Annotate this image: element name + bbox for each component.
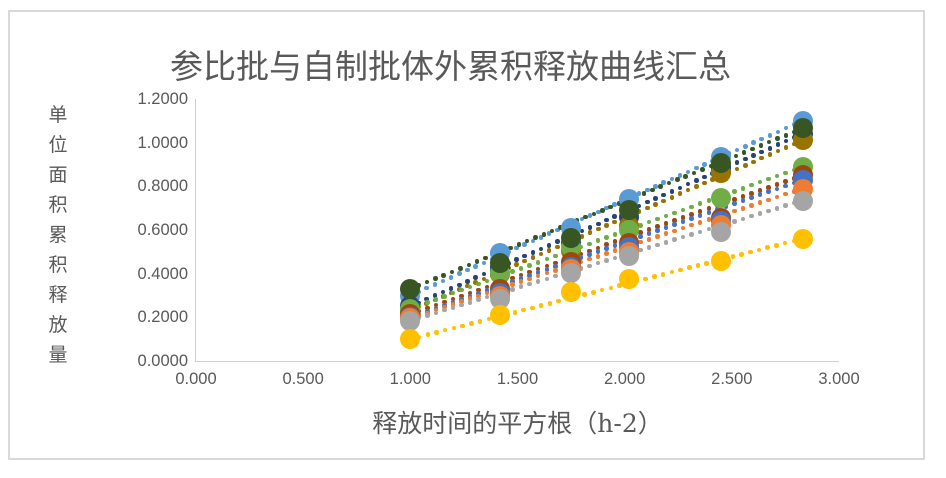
trendline-dot xyxy=(784,126,789,131)
trendline-dot xyxy=(482,261,487,266)
trendline-dot xyxy=(441,279,446,284)
trendline-dot xyxy=(686,182,691,187)
trendline-dot xyxy=(426,332,431,337)
trendline-dot xyxy=(556,299,561,304)
trendline-dot xyxy=(750,147,755,152)
trendline-dot xyxy=(766,198,771,203)
trendline-dot xyxy=(751,140,756,145)
trendline-dot xyxy=(536,274,541,279)
trendline-dot xyxy=(749,214,754,219)
trendline-dot xyxy=(465,279,470,284)
trendline-dot xyxy=(553,268,558,273)
trendline-dot xyxy=(683,174,688,179)
trendline-dot xyxy=(452,326,457,331)
trendline-dot xyxy=(638,240,643,245)
trendline-dot xyxy=(653,196,658,201)
trendline-dot xyxy=(686,188,691,193)
trendline-dot xyxy=(604,235,609,240)
trendline-dot xyxy=(527,277,532,282)
trendline-dot xyxy=(588,225,593,230)
trendline-dot xyxy=(475,259,480,264)
trendline-dot xyxy=(749,203,754,208)
trendline-dot xyxy=(775,206,780,211)
trendline-dot xyxy=(478,319,483,324)
trendline-dot xyxy=(743,163,748,168)
trendline-dot xyxy=(768,133,773,138)
trendline-dot xyxy=(433,282,438,287)
trendline-dot xyxy=(531,250,536,255)
trendline-dot xyxy=(647,237,652,242)
trendline-dot xyxy=(681,226,686,231)
cumulative-release-chart: 参比批与自制批体外累积释放曲线汇总 单位面积累积释放量 释放时间的平方根（h-2… xyxy=(0,0,946,478)
trendline-dot xyxy=(638,248,643,253)
trendline-dot xyxy=(672,211,677,216)
data-point-marker xyxy=(711,188,731,208)
trendline-dot xyxy=(758,192,763,197)
trendline-dot xyxy=(694,178,699,183)
trendline-dot xyxy=(521,308,526,313)
x-tick-label: 2.000 xyxy=(585,370,665,389)
trendline-dot xyxy=(608,205,613,210)
trendline-dot xyxy=(661,272,666,277)
trendline-dot xyxy=(539,247,544,252)
trendline-dot xyxy=(582,292,587,297)
trendline-dot xyxy=(647,220,652,225)
trendline-dot xyxy=(604,223,609,228)
trendline-dot xyxy=(539,252,544,257)
trendline-dot xyxy=(587,257,592,262)
trendline-dot xyxy=(767,140,772,145)
trendline-dot xyxy=(536,260,541,265)
data-point-marker xyxy=(490,253,510,273)
trendline-dot xyxy=(476,282,481,287)
data-point-marker xyxy=(561,282,581,302)
trendline-dot xyxy=(775,174,780,179)
trendline-dot xyxy=(742,150,747,155)
y-axis-title: 单位面积累积释放量 xyxy=(38,100,78,370)
trendline-dot xyxy=(596,222,601,227)
trendline-dot xyxy=(732,219,737,224)
trendline-dot xyxy=(741,217,746,222)
trendline-dot xyxy=(735,148,740,153)
trendline-dot xyxy=(776,142,781,147)
trendline-dot xyxy=(587,264,592,269)
y-tick-label: 0.6000 xyxy=(112,221,188,240)
x-tick-label: 3.000 xyxy=(799,370,879,389)
y-axis-title-char-5: 积 xyxy=(38,250,78,280)
trendline-dot xyxy=(442,308,447,313)
trendline-dot xyxy=(596,238,601,243)
trendline-dot xyxy=(655,228,660,233)
y-axis-title-char-6: 释 xyxy=(38,280,78,310)
trendline-dot xyxy=(522,259,527,264)
trendline-dot xyxy=(766,209,771,214)
y-axis-tick-labels: 0.00000.20000.40000.60000.80001.00001.20… xyxy=(108,99,188,361)
trendline-dot xyxy=(741,198,746,203)
trendline-dot xyxy=(536,279,541,284)
trendline-dot xyxy=(650,188,655,193)
trendline-dot xyxy=(739,252,744,257)
trendline-dot xyxy=(689,205,694,210)
trendline-dot xyxy=(482,272,487,277)
trendline-dot xyxy=(547,248,552,253)
trendline-dot xyxy=(527,263,532,268)
trendline-dot xyxy=(442,294,447,299)
trendline-dot xyxy=(583,215,588,220)
trendline-dot xyxy=(661,199,666,204)
trendline-dot xyxy=(652,274,657,279)
trendline-dot xyxy=(533,235,538,240)
trendline-dot xyxy=(732,201,737,206)
trendline-dot xyxy=(539,303,544,308)
y-tick-label: 0.8000 xyxy=(112,177,188,196)
chart-title: 参比批与自制批体外累积释放曲线汇总 xyxy=(170,44,870,90)
trendline-dot xyxy=(698,220,703,225)
trendline-dot xyxy=(768,152,773,157)
trendline-dot xyxy=(731,254,736,259)
trendline-dot xyxy=(514,257,519,262)
trendline-dot xyxy=(775,136,780,141)
x-axis-tick-labels: 0.0000.5001.0001.5002.0002.5003.000 xyxy=(196,370,839,394)
trendline-dot xyxy=(553,274,558,279)
trendline-dot xyxy=(443,328,448,333)
trendline-dot xyxy=(759,150,764,155)
trendline-dot xyxy=(613,256,618,261)
trendline-dot xyxy=(678,268,683,273)
y-axis-title-char-8: 量 xyxy=(38,340,78,370)
trendline-dot xyxy=(469,321,474,326)
trendline-dot xyxy=(757,248,762,253)
trendline-dot xyxy=(751,153,756,158)
x-tick-label: 2.500 xyxy=(692,370,772,389)
trendline-dot xyxy=(678,186,683,191)
y-tick-label: 1.2000 xyxy=(112,90,188,109)
trendline-dot xyxy=(702,181,707,186)
trendline-dot xyxy=(670,270,675,275)
trendline-dot xyxy=(458,266,463,271)
trendline-dot xyxy=(485,295,490,300)
trendline-dot xyxy=(784,139,789,144)
trendline-dot xyxy=(643,277,648,282)
trendline-dot xyxy=(434,297,439,302)
trendline-dot xyxy=(545,257,550,262)
y-tick-label: 0.0000 xyxy=(112,352,188,371)
y-axis-title-char-7: 放 xyxy=(38,310,78,340)
data-point-marker xyxy=(711,251,731,271)
x-tick-label: 0.000 xyxy=(156,370,236,389)
trendline-dot xyxy=(774,243,779,248)
trendline-dot xyxy=(704,261,709,266)
data-point-marker xyxy=(711,222,731,242)
trendline-dot xyxy=(555,245,560,250)
trendline-dot xyxy=(510,269,515,274)
trendline-dot xyxy=(645,200,650,205)
trendline-dot xyxy=(681,219,686,224)
trendline-dot xyxy=(783,171,788,176)
trendline-dot xyxy=(604,218,609,223)
trendline-dot xyxy=(450,270,455,275)
y-axis-title-char-0: 单 xyxy=(38,100,78,130)
trendline-dot xyxy=(467,263,472,268)
trendline-dot xyxy=(638,234,643,239)
x-axis-line xyxy=(195,361,839,362)
trendline-dot xyxy=(522,254,527,259)
x-tick-label: 1.500 xyxy=(478,370,558,389)
trendline-dot xyxy=(457,271,462,276)
trendline-dot xyxy=(768,146,773,151)
trendline-dot xyxy=(758,200,763,205)
trendline-dot xyxy=(638,223,643,228)
trendline-dot xyxy=(596,227,601,232)
trendline-dot xyxy=(531,255,536,260)
trendline-dot xyxy=(468,300,473,305)
trendline-dot xyxy=(604,258,609,263)
data-point-marker xyxy=(793,118,813,138)
trendline-dot xyxy=(689,216,694,221)
trendline-dot xyxy=(655,243,660,248)
trendline-dot xyxy=(483,256,488,261)
trendline-dot xyxy=(441,273,446,278)
trendline-dot xyxy=(658,184,663,189)
trendline-dot xyxy=(604,251,609,256)
trendline-dot xyxy=(510,287,515,292)
trendline-dot xyxy=(460,324,465,329)
trendline-dot xyxy=(707,210,712,215)
trendline-dot xyxy=(743,144,748,149)
trendline-dot xyxy=(425,280,430,285)
trendline-dot xyxy=(465,268,470,273)
trendline-dot xyxy=(525,239,530,244)
trendline-dot xyxy=(596,254,601,259)
trendline-dot xyxy=(513,310,518,315)
trendline-dot xyxy=(758,211,763,216)
trendline-dot xyxy=(425,313,430,318)
trendline-dot xyxy=(766,189,771,194)
trendline-dot xyxy=(613,248,618,253)
trendline-dot xyxy=(672,237,677,242)
data-point-marker xyxy=(561,228,581,248)
trendline-dot xyxy=(433,276,438,281)
trendline-dot xyxy=(672,229,677,234)
trendline-dot xyxy=(749,195,754,200)
trendline-dot xyxy=(681,235,686,240)
trendline-dot xyxy=(647,245,652,250)
trendline-dot xyxy=(555,239,560,244)
trendline-dot xyxy=(661,193,666,198)
trendline-dot xyxy=(783,192,788,197)
trendline-dot xyxy=(748,250,753,255)
trendline-dot xyxy=(664,225,669,230)
trendline-dot xyxy=(698,230,703,235)
trendline-dot xyxy=(776,130,781,135)
trendline-dot xyxy=(587,242,592,247)
trendline-dot xyxy=(784,145,789,150)
trendline-dot xyxy=(647,231,652,236)
trendline-dot xyxy=(732,189,737,194)
trendline-dot xyxy=(519,284,524,289)
trendline-dot xyxy=(473,264,478,269)
trendline-dot xyxy=(783,184,788,189)
trendline-dot xyxy=(735,160,740,165)
trendline-dot xyxy=(759,137,764,142)
trendline-dot xyxy=(758,180,763,185)
trendline-dot xyxy=(545,271,550,276)
trendline-dot xyxy=(550,229,555,234)
y-tick-label: 0.4000 xyxy=(112,265,188,284)
trendline-dot xyxy=(734,154,739,159)
trendline-dot xyxy=(609,286,614,291)
trendline-dot xyxy=(670,189,675,194)
trendline-dot xyxy=(741,206,746,211)
trendline-dot xyxy=(749,183,754,188)
trendline-dot xyxy=(449,275,454,280)
trendline-dot xyxy=(751,160,756,165)
trendline-dot xyxy=(434,311,439,316)
data-point-marker xyxy=(400,311,420,331)
trendline-dot xyxy=(743,157,748,162)
y-tick-label: 0.2000 xyxy=(112,308,188,327)
x-tick-label: 0.500 xyxy=(263,370,343,389)
trendline-dot xyxy=(468,285,473,290)
trendline-dot xyxy=(612,220,617,225)
trendline-dot xyxy=(645,206,650,211)
trendline-dot xyxy=(765,245,770,250)
trendline-dot xyxy=(542,232,547,237)
trendline-dot xyxy=(775,187,780,192)
trendline-dot xyxy=(655,234,660,239)
trendline-dot xyxy=(613,243,618,248)
data-point-marker xyxy=(400,329,420,349)
trendline-dot xyxy=(527,282,532,287)
trendline-dot xyxy=(735,167,740,172)
trendline-dot xyxy=(596,261,601,266)
trendline-dot xyxy=(741,186,746,191)
trendline-dot xyxy=(776,149,781,154)
trendline-dot xyxy=(732,209,737,214)
trendline-dot xyxy=(592,212,597,217)
trendline-dot xyxy=(664,240,669,245)
data-point-marker xyxy=(793,191,813,211)
trendline-dot xyxy=(672,222,677,227)
data-point-marker xyxy=(490,305,510,325)
trendline-dot xyxy=(600,288,605,293)
trendline-dot xyxy=(548,301,553,306)
trendline-dot xyxy=(664,214,669,219)
trendline-dot xyxy=(692,171,697,176)
trendline-dot xyxy=(514,262,519,267)
trendline-dot xyxy=(698,201,703,206)
trendline-dot xyxy=(591,290,596,295)
trendline-dot xyxy=(694,184,699,189)
y-axis-title-char-1: 位 xyxy=(38,130,78,160)
trendline-dot xyxy=(689,232,694,237)
trendline-dot xyxy=(600,208,605,213)
trendline-dot xyxy=(613,232,618,237)
y-tick-label: 1.0000 xyxy=(112,134,188,153)
trendline-dot xyxy=(784,133,789,138)
trendline-dot xyxy=(655,217,660,222)
trendline-dot xyxy=(519,266,524,271)
plot-area xyxy=(196,99,839,361)
trendline-dot xyxy=(612,214,617,219)
trendline-dot xyxy=(434,330,439,335)
trendline-dot xyxy=(476,297,481,302)
trendline-dot xyxy=(553,254,558,259)
y-axis-title-char-3: 积 xyxy=(38,190,78,220)
trendline-dot xyxy=(783,203,788,208)
x-tick-label: 1.000 xyxy=(370,370,450,389)
trendline-dot xyxy=(545,277,550,282)
trendline-dot xyxy=(459,288,464,293)
trendline-dot xyxy=(696,263,701,268)
trendline-dot xyxy=(424,286,429,291)
trendline-dot xyxy=(759,143,764,148)
trendline-dot xyxy=(642,191,647,196)
trendline-dot xyxy=(775,195,780,200)
trendline-dot xyxy=(519,279,524,284)
trendline-dot xyxy=(698,213,703,218)
trendline-dot xyxy=(547,243,552,248)
trendline-dot xyxy=(451,291,456,296)
trendline-dot xyxy=(675,177,680,182)
trendline-dot xyxy=(702,175,707,180)
trendline-dot xyxy=(667,181,672,186)
trendline-dot xyxy=(451,305,456,310)
trendline-dot xyxy=(689,223,694,228)
trendline-dot xyxy=(681,208,686,213)
y-axis-title-char-4: 累 xyxy=(38,220,78,250)
trendline-dot xyxy=(664,231,669,236)
trendline-dot xyxy=(687,265,692,270)
trendline-dot xyxy=(783,241,788,246)
trendline-dot xyxy=(766,177,771,182)
trendline-dot xyxy=(485,279,490,284)
trendline-dot xyxy=(588,230,593,235)
trendline-dot xyxy=(702,162,707,167)
trendline-dot xyxy=(670,195,675,200)
data-point-marker xyxy=(793,229,813,249)
x-axis-title: 释放时间的平方根（h-2） xyxy=(196,404,839,440)
trendline-dot xyxy=(517,242,522,247)
trendline-dot xyxy=(700,167,705,172)
data-point-marker xyxy=(561,263,581,283)
trendline-dot xyxy=(759,156,764,161)
trendline-dot xyxy=(694,166,699,171)
trendline-dot xyxy=(459,303,464,308)
trendline-dot xyxy=(530,306,535,311)
data-point-marker xyxy=(619,246,639,266)
trendline-dot xyxy=(604,246,609,251)
trendline-dot xyxy=(425,300,430,305)
trendline-dot xyxy=(653,202,658,207)
data-point-marker xyxy=(619,269,639,289)
trendline-dot xyxy=(678,191,683,196)
y-axis-title-char-2: 面 xyxy=(38,160,78,190)
